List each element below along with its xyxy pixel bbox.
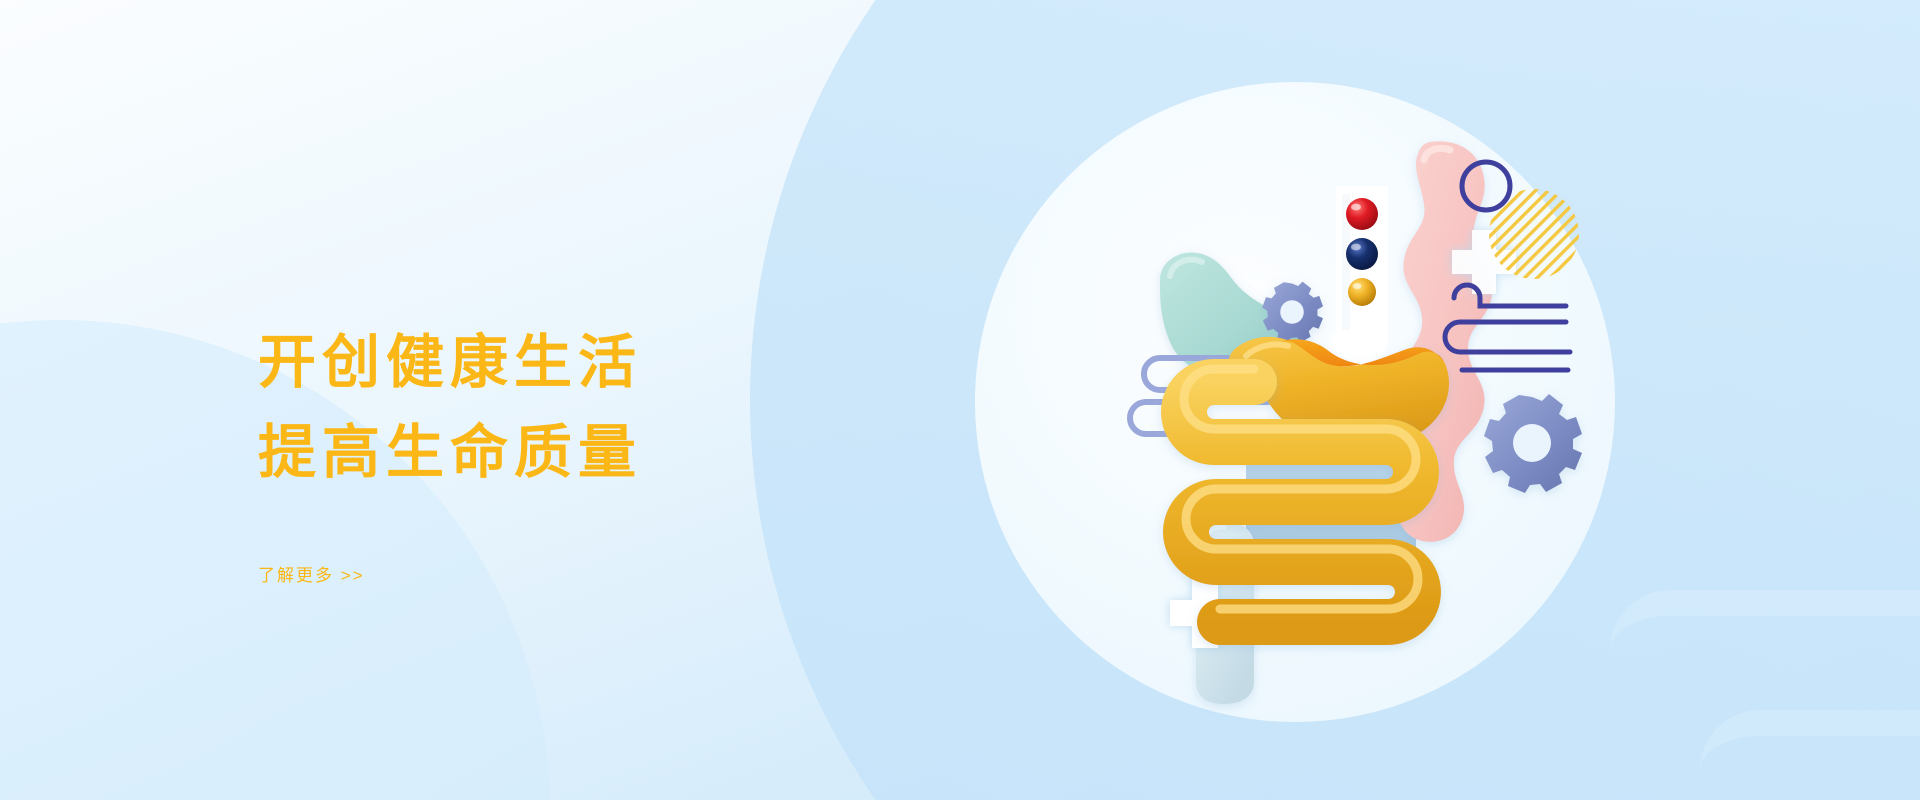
gear-icon-large	[1484, 394, 1582, 493]
headline-line-2: 提高生命质量	[258, 408, 818, 498]
hero-copy-block: 开创健康生活 提高生命质量 了解更多 >>	[258, 318, 818, 586]
learn-more-link[interactable]: 了解更多 >>	[258, 561, 365, 586]
digestive-system-illustration	[1010, 90, 1650, 730]
background-wave-decoration-2	[1700, 710, 1920, 800]
headline-line-1: 开创健康生活	[258, 318, 818, 408]
hero-banner: 开创健康生活 提高生命质量 了解更多 >>	[0, 0, 1920, 800]
bead-gold	[1348, 278, 1376, 306]
bead-navy	[1346, 238, 1378, 270]
hatched-circle-decoration	[1489, 189, 1579, 279]
bead-red	[1346, 198, 1378, 230]
